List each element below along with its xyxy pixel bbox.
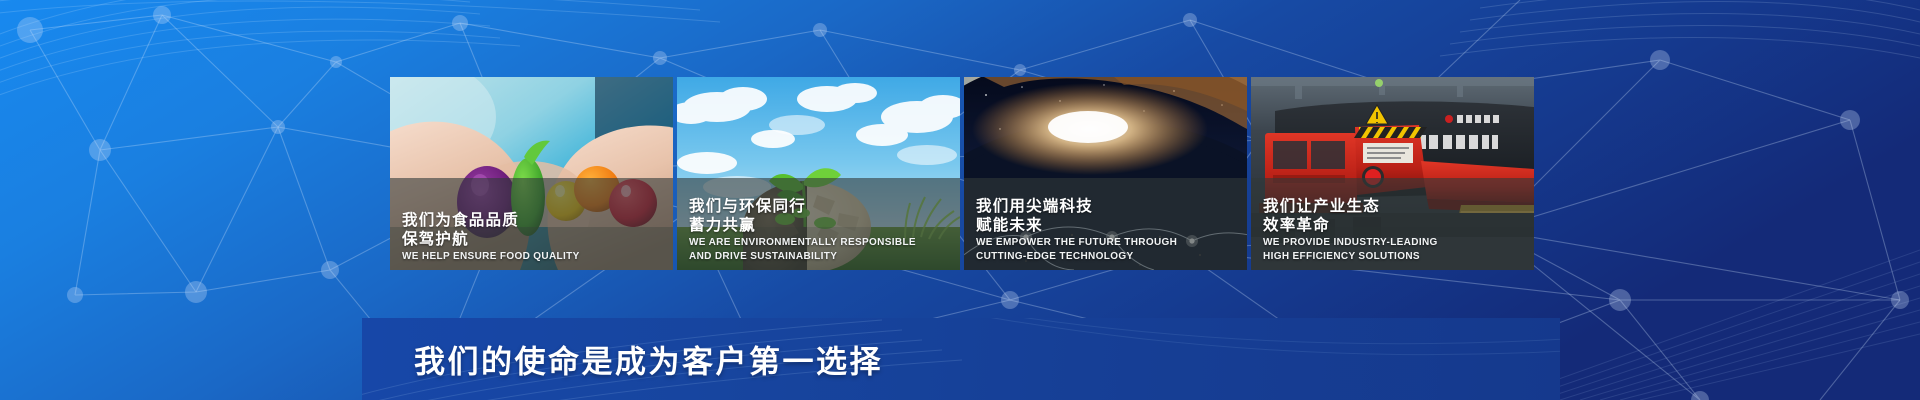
card-subtext-en-1: WE HELP ENSURE FOOD QUALITY [402,250,665,263]
mission-statement-band: 我们的使命是成为客户第一选择 [362,318,1560,400]
card-efficiency[interactable]: 我们让产业生态 效率革命 WE PROVIDE INDUSTRY-LEADING… [1251,77,1534,270]
card-headline-cn-1: 我们用尖端科技 [976,198,1239,217]
card-technology[interactable]: 我们用尖端科技 赋能未来 WE EMPOWER THE FUTURE THROU… [964,77,1247,270]
value-cards-row: 我们为食品品质 保驾护航 WE HELP ENSURE FOOD QUALITY [390,77,1534,270]
card-text-block: 我们与环保同行 蓄力共赢 WE ARE ENVIRONMENTALLY RESP… [689,198,952,263]
mission-headline: 我们的使命是成为客户第一选择 [414,337,883,382]
card-headline-cn-1: 我们让产业生态 [1263,198,1526,217]
card-subtext-en-1: WE EMPOWER THE FUTURE THROUGH [976,236,1239,249]
card-headline-cn-2: 蓄力共赢 [689,217,952,236]
card-text-block: 我们用尖端科技 赋能未来 WE EMPOWER THE FUTURE THROU… [976,198,1239,263]
card-subtext-en-2: HIGH EFFICIENCY SOLUTIONS [1263,250,1526,263]
card-subtext-en-1: WE ARE ENVIRONMENTALLY RESPONSIBLE [689,236,952,249]
card-text-block: 我们为食品品质 保驾护航 WE HELP ENSURE FOOD QUALITY [402,212,665,263]
card-headline-cn-2: 效率革命 [1263,217,1526,236]
card-subtext-en-2: AND DRIVE SUSTAINABILITY [689,250,952,263]
card-headline-cn-1: 我们为食品品质 [402,212,665,231]
card-food-quality[interactable]: 我们为食品品质 保驾护航 WE HELP ENSURE FOOD QUALITY [390,77,673,270]
mission-banner: 我们为食品品质 保驾护航 WE HELP ENSURE FOOD QUALITY [0,0,1920,400]
card-subtext-en-1: WE PROVIDE INDUSTRY-LEADING [1263,236,1526,249]
card-headline-cn-2: 保驾护航 [402,231,665,250]
card-text-block: 我们让产业生态 效率革命 WE PROVIDE INDUSTRY-LEADING… [1263,198,1526,263]
card-headline-cn-2: 赋能未来 [976,217,1239,236]
card-subtext-en-2: CUTTING-EDGE TECHNOLOGY [976,250,1239,263]
card-headline-cn-1: 我们与环保同行 [689,198,952,217]
card-sustainability[interactable]: 我们与环保同行 蓄力共赢 WE ARE ENVIRONMENTALLY RESP… [677,77,960,270]
